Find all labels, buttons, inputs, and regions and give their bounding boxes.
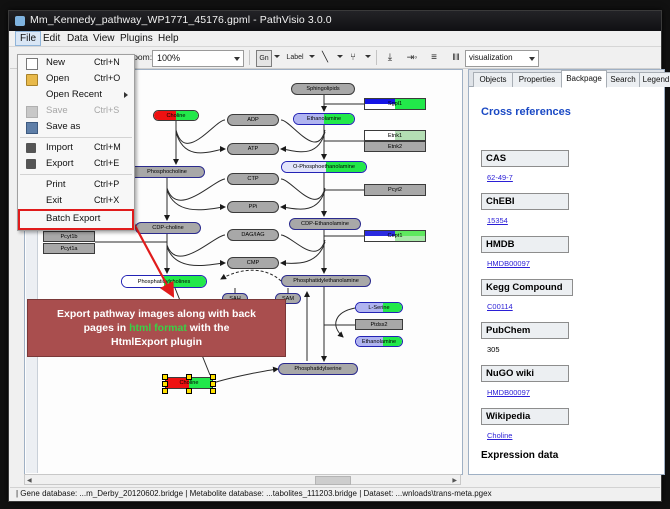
menu-item-new[interactable]: New Ctrl+N xyxy=(18,55,134,71)
node-label: Ethanolamine xyxy=(356,337,402,346)
node-etnk2[interactable]: Etnk2 xyxy=(364,141,426,152)
menu-item-accel: Ctrl+O xyxy=(94,73,120,83)
chevron-down-icon xyxy=(234,57,240,61)
chevron-down-icon xyxy=(529,57,535,61)
node-choline-top[interactable]: Choline xyxy=(153,110,199,121)
backpage-content: Cross references CAS 62-49-7 ChEBI 15354… xyxy=(479,88,655,472)
node-pcyt1b[interactable]: Pcyt1b xyxy=(43,231,95,242)
new-file-icon xyxy=(26,58,38,70)
node-label: L-Serine xyxy=(356,303,402,312)
zoom-value: 100% xyxy=(157,53,180,63)
menu-item-label: Open Recent xyxy=(46,89,102,100)
menu-item-label: Save as xyxy=(46,121,80,132)
menu-item-open[interactable]: Open Ctrl+O xyxy=(18,71,134,87)
annotation-line2-a: pages in xyxy=(84,322,130,334)
annotation-line2-b: with the xyxy=(187,322,230,334)
menu-item-label: Export xyxy=(46,158,73,169)
node-label: Phosphatidylcholines xyxy=(122,276,206,287)
import-icon xyxy=(26,143,36,153)
line-dropdown-icon[interactable] xyxy=(337,55,343,58)
menu-item-label: Import xyxy=(46,142,73,153)
menu-bar: File Edit Data View Plugins Help xyxy=(9,31,661,47)
node-atp[interactable]: ATP xyxy=(227,143,279,155)
node-etnk1[interactable]: Etnk1 xyxy=(364,130,426,141)
menu-edit[interactable]: Edit xyxy=(39,32,64,45)
xref-label-wikipedia: Wikipedia xyxy=(481,408,569,425)
menu-item-export[interactable]: Export Ctrl+E xyxy=(18,156,134,172)
node-label: Etnk1 xyxy=(365,131,425,140)
tab-backpage[interactable]: Backpage xyxy=(561,70,607,88)
line-tool-button[interactable]: ╲ xyxy=(318,50,332,65)
status-bar: | Gene database: ...m_Derby_20120602.bri… xyxy=(10,487,660,501)
menu-item-save-as[interactable]: Save as xyxy=(18,119,134,135)
menu-item-label: Print xyxy=(46,179,66,190)
xref-label-hmdb: HMDB xyxy=(481,236,569,253)
app-icon xyxy=(15,16,25,26)
datanode-tool-button[interactable]: Gn xyxy=(256,50,272,67)
node-ptdss2[interactable]: Ptdss2 xyxy=(355,319,403,330)
side-panel: Objects Properties Backpage Search Legen… xyxy=(468,69,665,475)
xref-label-nugo: NuGO wiki xyxy=(481,365,569,382)
open-folder-icon xyxy=(26,74,38,86)
xref-value-wikipedia[interactable]: Choline xyxy=(487,431,512,440)
node-label: Sgpl1 xyxy=(365,99,425,109)
xref-value-kegg[interactable]: C00114 xyxy=(487,302,513,311)
xref-label-kegg: Kegg Compound xyxy=(481,279,573,296)
node-ctp[interactable]: CTP xyxy=(227,173,279,185)
node-o-phosphoethanolamine[interactable]: O-Phosphoethanolamine xyxy=(281,161,367,173)
node-pcyt1a[interactable]: Pcyt1a xyxy=(43,243,95,254)
scrollbar-thumb[interactable] xyxy=(315,476,351,485)
xref-label-pubchem: PubChem xyxy=(481,322,569,339)
menu-data[interactable]: Data xyxy=(63,32,92,45)
menu-item-label: Exit xyxy=(46,195,62,206)
node-cdp-ethanolamine[interactable]: CDP-Ethanolamine xyxy=(289,218,361,230)
tab-objects[interactable]: Objects xyxy=(473,72,513,87)
menu-item-accel: Ctrl+N xyxy=(94,57,120,67)
align-top-icon[interactable]: ⤓ xyxy=(383,50,397,65)
node-label: Choline xyxy=(154,111,198,120)
menu-plugins[interactable]: Plugins xyxy=(116,32,157,45)
file-menu-dropdown[interactable]: New Ctrl+N Open Ctrl+O Open Recent Save … xyxy=(17,54,135,231)
selection-handle[interactable] xyxy=(210,388,216,394)
annotation-html-format: html format xyxy=(129,322,187,334)
node-ethanolamine[interactable]: Ethanolamine xyxy=(293,113,355,125)
node-dag[interactable]: DAG/IAG xyxy=(227,229,279,241)
annotation-line1: Export pathway images along with back xyxy=(57,308,256,320)
node-cdp-choline[interactable]: CDP-choline xyxy=(135,222,201,234)
menu-item-print[interactable]: Print Ctrl+P xyxy=(18,177,134,193)
menu-item-accel: Ctrl+X xyxy=(94,195,119,205)
chevron-right-icon xyxy=(124,92,128,98)
node-label: O-Phosphoethanolamine xyxy=(282,162,366,172)
node-pcyt2[interactable]: Pcyt2 xyxy=(364,184,426,196)
save-icon xyxy=(26,106,38,118)
visualization-combobox[interactable]: visualization xyxy=(465,50,539,67)
xref-value-hmdb[interactable]: HMDB00097 xyxy=(487,259,530,268)
menu-divider xyxy=(20,137,132,138)
interaction-tool-button[interactable]: ⑂ xyxy=(346,50,360,65)
menu-item-accel: Ctrl+E xyxy=(94,158,119,168)
panel-tabs: Objects Properties Backpage Search Legen… xyxy=(469,70,664,87)
node-ppi[interactable]: PPi xyxy=(227,201,279,213)
node-cmp[interactable]: CMP xyxy=(227,257,279,269)
tab-search[interactable]: Search xyxy=(606,72,640,87)
annotation-text: Export pathway images along with back pa… xyxy=(51,307,262,349)
xref-label-cas: CAS xyxy=(481,150,569,167)
backpage-heading: Cross references xyxy=(481,106,571,118)
selection-handle[interactable] xyxy=(186,388,192,394)
window-title: Mm_Kennedy_pathway_WP1771_45176.gpml - P… xyxy=(30,14,332,26)
menu-item-accel: Ctrl+S xyxy=(94,105,119,115)
node-phosphatidylethanolamine[interactable]: Phosphatidylethanolamine xyxy=(281,275,371,287)
xref-label-chebi: ChEBI xyxy=(481,193,569,210)
node-choline-selected[interactable]: Choline xyxy=(165,377,213,389)
menu-item-accel: Ctrl+M xyxy=(94,142,121,152)
node-phosphatidylcholines[interactable]: Phosphatidylcholines xyxy=(121,275,207,288)
node-phosphatidylserine[interactable]: Phosphatidylserine xyxy=(278,363,358,375)
status-text: | Gene database: ...m_Derby_20120602.bri… xyxy=(16,489,492,498)
zoom-combobox[interactable]: 100% xyxy=(152,50,244,67)
node-cept1[interactable]: Cept1 xyxy=(364,230,426,242)
interaction-dropdown-icon[interactable] xyxy=(365,55,371,58)
screenshot-root: Mm_Kennedy_pathway_WP1771_45176.gpml - P… xyxy=(0,0,670,509)
save-as-icon xyxy=(26,122,38,134)
node-label: Choline xyxy=(166,378,212,388)
menu-item-exit[interactable]: Exit Ctrl+X xyxy=(18,193,134,209)
menu-help[interactable]: Help xyxy=(154,32,183,45)
menu-divider xyxy=(20,174,132,175)
menu-view[interactable]: View xyxy=(89,32,119,45)
annotation-line3: HtmlExport plugin xyxy=(111,336,202,348)
annotation-callout: Export pathway images along with back pa… xyxy=(27,299,286,357)
xref-value-cas[interactable]: 62-49-7 xyxy=(487,173,513,182)
menu-item-accel: Ctrl+P xyxy=(94,179,119,189)
menu-item-batch-export[interactable]: Batch Export xyxy=(18,209,134,230)
datanode-dropdown-icon[interactable] xyxy=(274,55,280,58)
node-sgpl1[interactable]: Sgpl1 xyxy=(364,98,426,110)
distribute-icon[interactable]: ‖‖ xyxy=(449,50,463,65)
node-sphingolipids[interactable]: Sphingolipids xyxy=(291,83,355,95)
label-tool-button[interactable]: Label xyxy=(284,50,306,65)
menu-item-save: Save Ctrl+S xyxy=(18,103,134,119)
canvas-horizontal-scrollbar[interactable]: ◀ ▶ xyxy=(24,474,461,485)
node-label: Cept1 xyxy=(365,231,425,241)
node-ethanolamine-2[interactable]: Ethanolamine xyxy=(355,336,403,347)
menu-item-import[interactable]: Import Ctrl+M xyxy=(18,140,134,156)
selection-handle[interactable] xyxy=(162,388,168,394)
title-bar: Mm_Kennedy_pathway_WP1771_45176.gpml - P… xyxy=(9,11,661,31)
menu-item-label: Batch Export xyxy=(46,213,100,224)
visualization-value: visualization xyxy=(469,53,513,62)
label-dropdown-icon[interactable] xyxy=(309,55,315,58)
menu-file[interactable]: File xyxy=(15,31,41,46)
tab-properties[interactable]: Properties xyxy=(512,72,562,87)
xref-value-nugo[interactable]: HMDB00097 xyxy=(487,388,530,397)
align-center-icon[interactable]: ≡ xyxy=(427,50,441,65)
node-l-serine[interactable]: L-Serine xyxy=(355,302,403,313)
export-icon xyxy=(26,159,36,169)
menu-item-label: Save xyxy=(46,105,68,116)
node-label: Ethanolamine xyxy=(294,114,354,124)
menu-item-label: Open xyxy=(46,73,69,84)
application-window: Mm_Kennedy_pathway_WP1771_45176.gpml - P… xyxy=(8,10,662,502)
node-phosphocholine[interactable]: Phosphocholine xyxy=(129,166,205,178)
menu-item-label: New xyxy=(46,57,65,68)
node-adp[interactable]: ADP xyxy=(227,114,279,126)
expression-data-heading: Expression data xyxy=(481,450,558,461)
align-left-icon[interactable]: ⇥◦ xyxy=(405,50,419,65)
tab-legend[interactable]: Legend xyxy=(639,72,670,87)
menu-item-open-recent[interactable]: Open Recent xyxy=(18,87,134,103)
xref-value-pubchem: 305 xyxy=(487,345,500,354)
xref-value-chebi[interactable]: 15354 xyxy=(487,216,508,225)
